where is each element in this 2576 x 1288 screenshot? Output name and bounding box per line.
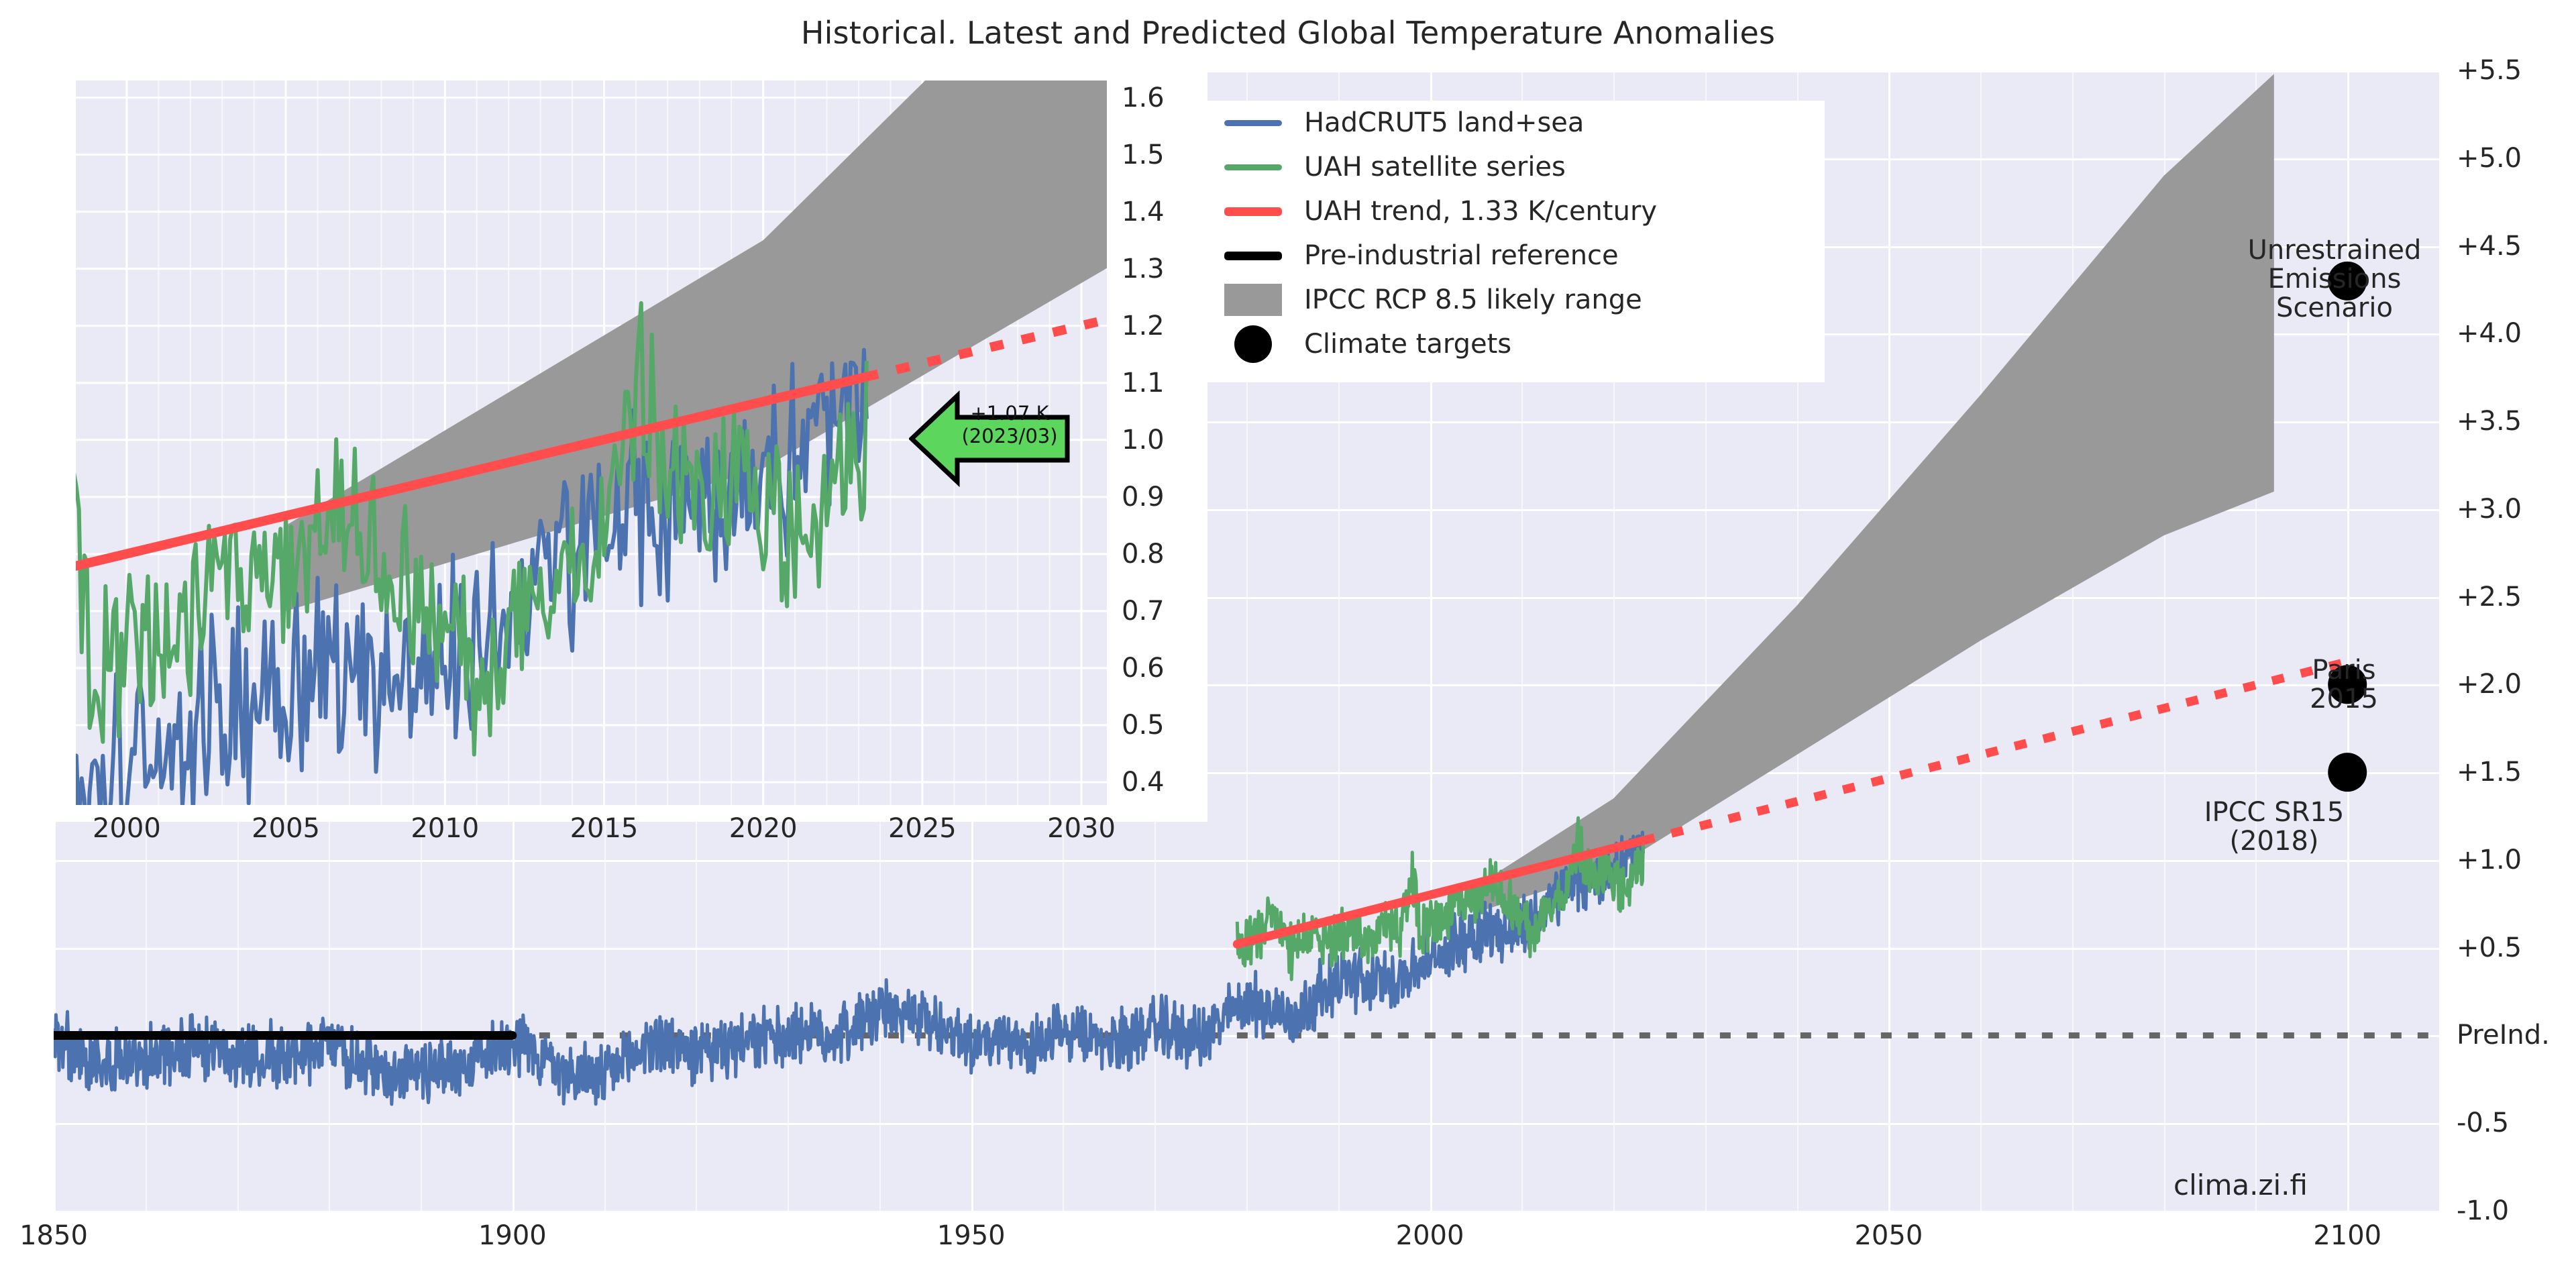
site-watermark: clima.zi.fi (2173, 1169, 2308, 1201)
main-xtick-label: 2000 (1396, 1220, 1464, 1251)
main-ytick-label: PreInd. (2457, 1020, 2550, 1051)
anno-unrestrained-line2: Emissions (2268, 264, 2402, 294)
legend-key-patch-gray (1221, 284, 1285, 316)
legend-key-line-black (1221, 252, 1285, 260)
anno-paris-line2: 2015 (2310, 684, 2378, 714)
red-line-icon (1224, 207, 1282, 216)
anno-ipcc-line1: IPCC SR15 (2204, 797, 2345, 828)
legend-item-3[interactable]: UAH trend, 1.33 K/century (1201, 189, 1825, 233)
inset-ytick-label: 0.8 (1122, 539, 1165, 570)
latest-anomaly-date: (2023/03) (961, 425, 1057, 447)
main-ytick-label: +3.5 (2457, 406, 2522, 437)
legend-key-line-green (1221, 164, 1285, 170)
inset-xtick-label: 2025 (888, 813, 957, 844)
annotation-ipcc-sr15: IPCC SR15 (2018) (2140, 798, 2408, 856)
inset-ytick-label: 1.3 (1122, 254, 1165, 284)
main-xtick-label: 1850 (19, 1220, 88, 1251)
inset-ytick-label: 1.0 (1122, 425, 1165, 455)
inset-ytick-label: 1.5 (1122, 140, 1165, 170)
legend-item-5[interactable]: IPCC RCP 8.5 likely range (1201, 278, 1825, 322)
latest-anomaly-arrow-annotation: +1.07 K (2023/03) (909, 388, 1070, 490)
inset-ytick-label: 1.6 (1122, 83, 1165, 113)
inset-xtick-label: 2015 (570, 813, 639, 844)
inset-ytick-label: 0.6 (1122, 653, 1165, 684)
legend-label: Climate targets (1304, 329, 1511, 360)
inset-ytick-label: 1.1 (1122, 368, 1165, 398)
legend-item-6[interactable]: Climate targets (1201, 322, 1825, 366)
inset-xtick-label: 2030 (1047, 813, 1116, 844)
main-xtick-label: 1900 (478, 1220, 547, 1251)
main-ytick-label: +2.0 (2457, 669, 2522, 700)
gray-patch-icon (1224, 284, 1282, 316)
inset-xtick-label: 2000 (93, 813, 161, 844)
inset-chart-panel: 20002005201020152020202520300.40.50.60.7… (0, 44, 1207, 822)
green-line-icon (1224, 164, 1282, 170)
main-xtick-label: 2100 (2313, 1220, 2381, 1251)
inset-ytick-label: 0.7 (1122, 596, 1165, 627)
climate-target-marker-3 (2328, 753, 2367, 792)
legend-label: Pre-industrial reference (1304, 240, 1619, 271)
anno-ipcc-line2: (2018) (2229, 826, 2318, 857)
legend-label: UAH trend, 1.33 K/century (1304, 196, 1657, 227)
main-xtick-label: 1950 (937, 1220, 1006, 1251)
inset-ytick-label: 0.9 (1122, 482, 1165, 513)
inset-ytick-label: 0.4 (1122, 767, 1165, 798)
legend-label: IPCC RCP 8.5 likely range (1304, 284, 1642, 315)
inset-xtick-label: 2010 (411, 813, 479, 844)
main-xtick-label: 2050 (1854, 1220, 1923, 1251)
black-line-icon (1224, 252, 1282, 260)
anno-unrestrained-line1: Unrestrained (2248, 235, 2422, 266)
inset-ytick-label: 1.2 (1122, 311, 1165, 341)
annotation-unrestrained-emissions: Unrestrained Emissions Scenario (2194, 236, 2475, 323)
main-ytick-label: +5.0 (2457, 143, 2522, 174)
anno-paris-line1: Paris (2312, 655, 2375, 686)
black-dot-icon (1234, 325, 1272, 363)
main-ytick-label: +0.5 (2457, 932, 2522, 963)
legend-item-2[interactable]: UAH satellite series (1201, 145, 1825, 189)
main-ytick-label: +1.5 (2457, 757, 2522, 788)
main-ytick-label: +1.0 (2457, 845, 2522, 875)
main-ytick-label: +2.5 (2457, 582, 2522, 612)
main-ytick-label: -1.0 (2457, 1195, 2509, 1226)
annotation-paris-2015: Paris 2015 (2270, 656, 2418, 714)
main-ytick-label: -0.5 (2457, 1108, 2509, 1138)
legend-key-line-red (1221, 207, 1285, 216)
hadcrut5-series-line (54, 833, 1644, 1104)
latest-anomaly-arrow-label: +1.07 K (2023/03) (956, 402, 1063, 447)
legend-item-4[interactable]: Pre-industrial reference (1201, 233, 1825, 278)
legend-key-dot-black (1221, 325, 1285, 363)
main-ytick-label: +3.0 (2457, 494, 2522, 525)
legend-key-line-blue (1221, 120, 1285, 126)
latest-anomaly-value: +1.07 K (970, 402, 1049, 425)
anno-unrestrained-line3: Scenario (2276, 292, 2393, 323)
legend-label: HadCRUT5 land+sea (1304, 107, 1584, 138)
inset-ytick-label: 1.4 (1122, 197, 1165, 227)
main-gridline-horizontal (54, 1211, 2439, 1213)
inset-ytick-label: 0.5 (1122, 710, 1165, 741)
inset-xtick-label: 2020 (729, 813, 798, 844)
blue-line-icon (1224, 120, 1282, 126)
main-ytick-label: +5.5 (2457, 55, 2522, 86)
legend-label: UAH satellite series (1304, 152, 1566, 182)
chart-legend: HadCRUT5 land+seaUAH satellite seriesUAH… (1201, 101, 1825, 382)
legend-item-1[interactable]: HadCRUT5 land+sea (1201, 101, 1825, 145)
inset-xtick-label: 2005 (252, 813, 320, 844)
